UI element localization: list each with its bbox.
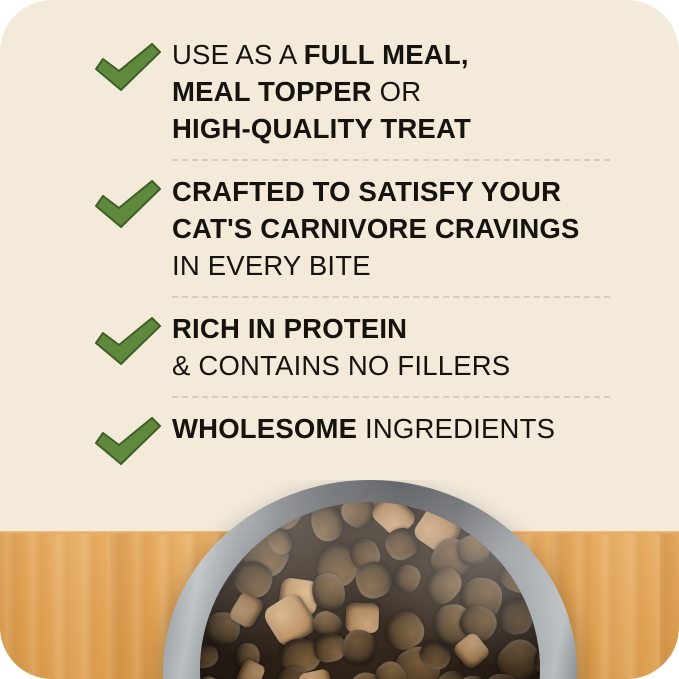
benefit-divider	[172, 296, 610, 298]
benefits-panel: USE AS A FULL MEAL, MEAL TOPPER OR HIGH-…	[0, 0, 679, 531]
benefit-span-bold: CAT'S CARNIVORE CRAVINGS	[172, 213, 580, 244]
kibble-piece	[391, 562, 424, 596]
green-checkmark-icon	[92, 38, 164, 98]
benefit-span: USE AS A	[172, 39, 304, 70]
benefit-divider	[172, 159, 610, 161]
green-checkmark-icon	[92, 312, 164, 372]
benefit-span: & CONTAINS NO FILLERS	[172, 350, 510, 381]
benefit-item-wholesome-ingredients: WHOLESOME INGREDIENTS	[0, 410, 679, 447]
benefit-line: RICH IN PROTEIN	[172, 310, 510, 347]
benefit-text: CRAFTED TO SATISFY YOUR CAT'S CARNIVORE …	[172, 173, 580, 284]
product-benefits-card: USE AS A FULL MEAL, MEAL TOPPER OR HIGH-…	[0, 0, 679, 679]
benefit-span-bold: WHOLESOME	[172, 413, 357, 444]
benefit-span: OR	[372, 76, 422, 107]
benefit-span-bold: FULL MEAL,	[304, 39, 469, 70]
kibble-piece	[498, 598, 534, 636]
benefit-line: USE AS A FULL MEAL,	[172, 36, 471, 73]
green-checkmark-icon	[92, 412, 164, 472]
benefit-item-carnivore-cravings: CRAFTED TO SATISFY YOUR CAT'S CARNIVORE …	[0, 173, 679, 284]
benefit-line: & CONTAINS NO FILLERS	[172, 347, 510, 384]
benefit-item-rich-in-protein: RICH IN PROTEIN & CONTAINS NO FILLERS	[0, 310, 679, 384]
kibble-piece	[340, 627, 377, 665]
benefit-span-bold: HIGH-QUALITY TREAT	[172, 113, 471, 144]
benefit-span-bold: MEAL TOPPER	[172, 76, 372, 107]
benefit-text: RICH IN PROTEIN & CONTAINS NO FILLERS	[172, 310, 510, 384]
bowl-area	[0, 480, 679, 679]
kibble-piece	[200, 502, 232, 523]
benefit-line: CRAFTED TO SATISFY YOUR	[172, 173, 580, 210]
kibble-piece	[200, 674, 230, 679]
benefit-span-bold: CRAFTED TO SATISFY YOUR	[172, 176, 561, 207]
benefit-line: MEAL TOPPER OR	[172, 73, 471, 110]
kibble-piece	[490, 632, 540, 679]
benefit-divider	[172, 396, 610, 398]
benefit-text: USE AS A FULL MEAL, MEAL TOPPER OR HIGH-…	[172, 36, 471, 147]
benefit-span: INGREDIENTS	[357, 413, 555, 444]
benefit-line: HIGH-QUALITY TREAT	[172, 110, 471, 147]
benefit-line: IN EVERY BITE	[172, 247, 580, 284]
kibble-piece	[200, 641, 221, 671]
benefit-item-full-meal: USE AS A FULL MEAL, MEAL TOPPER OR HIGH-…	[0, 36, 679, 147]
green-checkmark-icon	[92, 175, 164, 235]
benefit-span-bold: RICH IN PROTEIN	[172, 313, 407, 344]
benefit-text: WHOLESOME INGREDIENTS	[172, 410, 555, 447]
benefit-span: IN EVERY BITE	[172, 250, 371, 281]
benefit-line: CAT'S CARNIVORE CRAVINGS	[172, 210, 580, 247]
benefit-line: WHOLESOME INGREDIENTS	[172, 410, 555, 447]
kibble-piece	[346, 603, 380, 634]
